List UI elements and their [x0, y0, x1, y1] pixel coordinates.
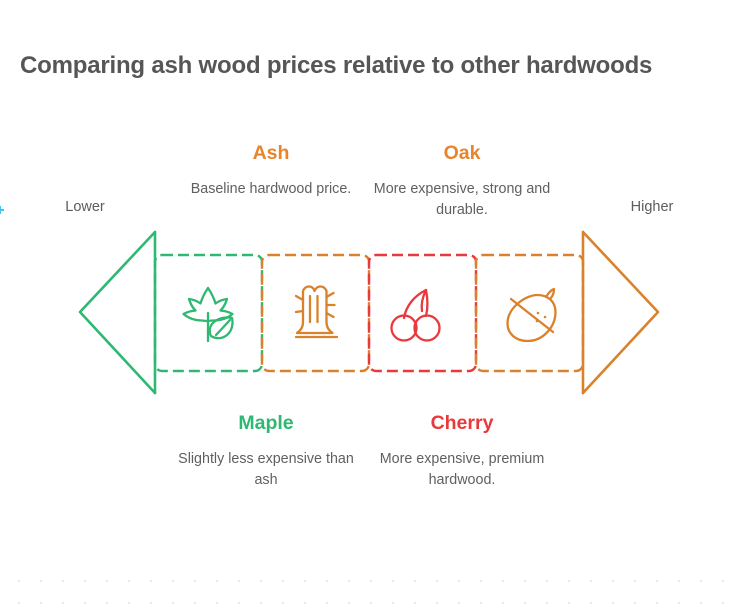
callout-ash-description: Baseline hardwood price. — [176, 179, 366, 199]
page-title: Comparing ash wood prices relative to ot… — [20, 52, 730, 81]
scale-label-higher: Higher — [597, 199, 707, 215]
callout-maple-heading: Maple — [171, 412, 361, 435]
callout-cherry-heading: Cherry — [367, 412, 557, 435]
callout-maple-description: Slightly less expensive than ash — [171, 449, 361, 490]
tree-stump-icon — [296, 287, 337, 338]
scale-box-cherry — [369, 255, 476, 371]
callout-maple: Maple Slightly less expensive than ash — [171, 412, 361, 490]
maple-leaf-icon — [184, 288, 233, 341]
cherries-icon — [392, 290, 440, 341]
edge-decoration-icon — [0, 205, 6, 217]
acorn-icon — [508, 289, 556, 341]
scale-box-maple — [155, 255, 262, 371]
callout-oak: Oak More expensive, strong and durable. — [367, 142, 557, 220]
price-scale-diagram — [0, 0, 743, 612]
callout-ash-heading: Ash — [176, 142, 366, 165]
callout-oak-description: More expensive, strong and durable. — [367, 179, 557, 220]
right-arrowhead — [583, 232, 658, 393]
callout-ash: Ash Baseline hardwood price. — [176, 142, 366, 200]
scale-label-lower: Lower — [30, 199, 140, 215]
callout-cherry-description: More expensive, premium hardwood. — [367, 449, 557, 490]
footer-dot-grid — [0, 564, 743, 612]
callout-cherry: Cherry More expensive, premium hardwood. — [367, 412, 557, 490]
callout-oak-heading: Oak — [367, 142, 557, 165]
scale-box-oak — [476, 255, 583, 371]
scale-box-ash — [262, 255, 369, 371]
left-arrowhead — [80, 232, 155, 393]
